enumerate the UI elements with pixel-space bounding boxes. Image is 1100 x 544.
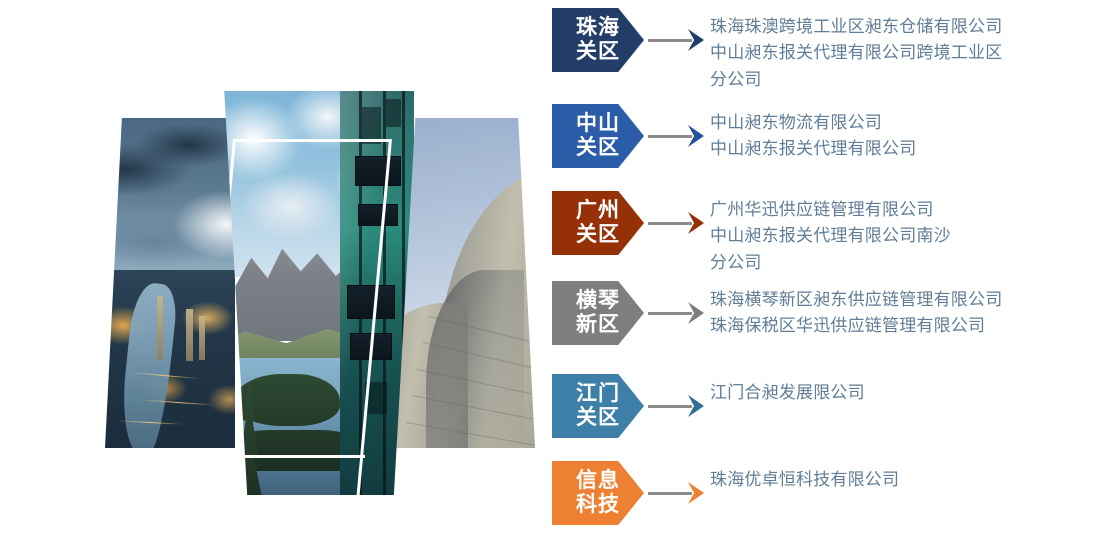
district-badge[interactable]: 信息 科技 [552, 461, 644, 525]
tower-balcony [347, 285, 395, 319]
badge-line-2: 关区 [576, 223, 620, 247]
arrow-line [648, 312, 692, 315]
district-badge[interactable]: 珠海 关区 [552, 8, 644, 72]
company-list: 珠海横琴新区昶东供应链管理有限公司 珠海保税区华迅供应链管理有限公司 [710, 281, 1100, 340]
tower-pane [362, 107, 381, 143]
city-sky [105, 118, 235, 290]
photo-panel-city [105, 118, 235, 448]
district-badge[interactable]: 横琴 新区 [552, 281, 644, 345]
badge-line-1: 横琴 [576, 289, 620, 313]
tower-balcony [358, 204, 399, 226]
arrow-line [648, 222, 692, 225]
badge-line-2: 关区 [576, 40, 620, 64]
company-list: 广州华迅供应链管理有限公司 中山昶东报关代理有限公司南沙 分公司 [710, 191, 1100, 276]
landscape-inner [208, 91, 414, 495]
tower-pane [386, 99, 401, 127]
list-item[interactable]: 广州 关区 广州华迅供应链管理有限公司 中山昶东报关代理有限公司南沙 分公司 [552, 191, 1100, 276]
arrow-icon [644, 191, 710, 255]
badge-line-1: 江门 [576, 382, 620, 406]
list-item[interactable]: 信息 科技 珠海优卓恒科技有限公司 [552, 461, 1100, 525]
photo-panel-architecture [395, 118, 535, 448]
badge-line-2: 关区 [576, 136, 620, 160]
company-list: 江门合昶发展限公司 [710, 374, 1100, 406]
district-badge[interactable]: 江门 关区 [552, 374, 644, 438]
district-badge[interactable]: 中山 关区 [552, 104, 644, 168]
badge-line-1: 信息 [576, 469, 620, 493]
badge-line-1: 珠海 [576, 16, 620, 40]
list-item[interactable]: 珠海 关区 珠海珠澳跨境工业区昶东仓储有限公司 中山昶东报关代理有限公司跨境工业… [552, 8, 1100, 93]
company-list: 中山昶东物流有限公司 中山昶东报关代理有限公司 [710, 104, 1100, 163]
photo-collage [0, 0, 560, 544]
city-tower [157, 296, 163, 360]
list-item[interactable]: 中山 关区 中山昶东物流有限公司 中山昶东报关代理有限公司 [552, 104, 1100, 168]
photo-panel-landscape [205, 88, 417, 498]
city-tower [199, 316, 205, 360]
arrow-line [648, 39, 692, 42]
badge-line-2: 新区 [576, 313, 620, 337]
tower-balcony [355, 156, 401, 186]
arrow-line [648, 135, 692, 138]
badge-line-1: 中山 [576, 112, 620, 136]
badge-line-2: 科技 [576, 493, 620, 517]
badge-line-2: 关区 [576, 406, 620, 430]
company-list: 珠海优卓恒科技有限公司 [710, 461, 1100, 493]
badge-line-1: 广州 [576, 199, 620, 223]
city-tower [186, 309, 193, 361]
inset-frame-bottom [237, 455, 365, 458]
list-item[interactable]: 横琴 新区 珠海横琴新区昶东供应链管理有限公司 珠海保税区华迅供应链管理有限公司 [552, 281, 1100, 345]
arrow-line [648, 405, 692, 408]
arrow-icon [644, 374, 710, 438]
customs-district-list: 珠海 关区 珠海珠澳跨境工业区昶东仓储有限公司 中山昶东报关代理有限公司跨境工业… [552, 0, 1100, 544]
arrow-icon [644, 281, 710, 345]
list-item[interactable]: 江门 关区 江门合昶发展限公司 [552, 374, 1100, 438]
district-badge[interactable]: 广州 关区 [552, 191, 644, 255]
arrow-icon [644, 461, 710, 525]
arrow-line [648, 492, 692, 495]
company-list: 珠海珠澳跨境工业区昶东仓储有限公司 中山昶东报关代理有限公司跨境工业区 分公司 [710, 8, 1100, 93]
inset-frame-top [233, 139, 390, 142]
arrow-icon [644, 8, 710, 72]
arrow-icon [644, 104, 710, 168]
